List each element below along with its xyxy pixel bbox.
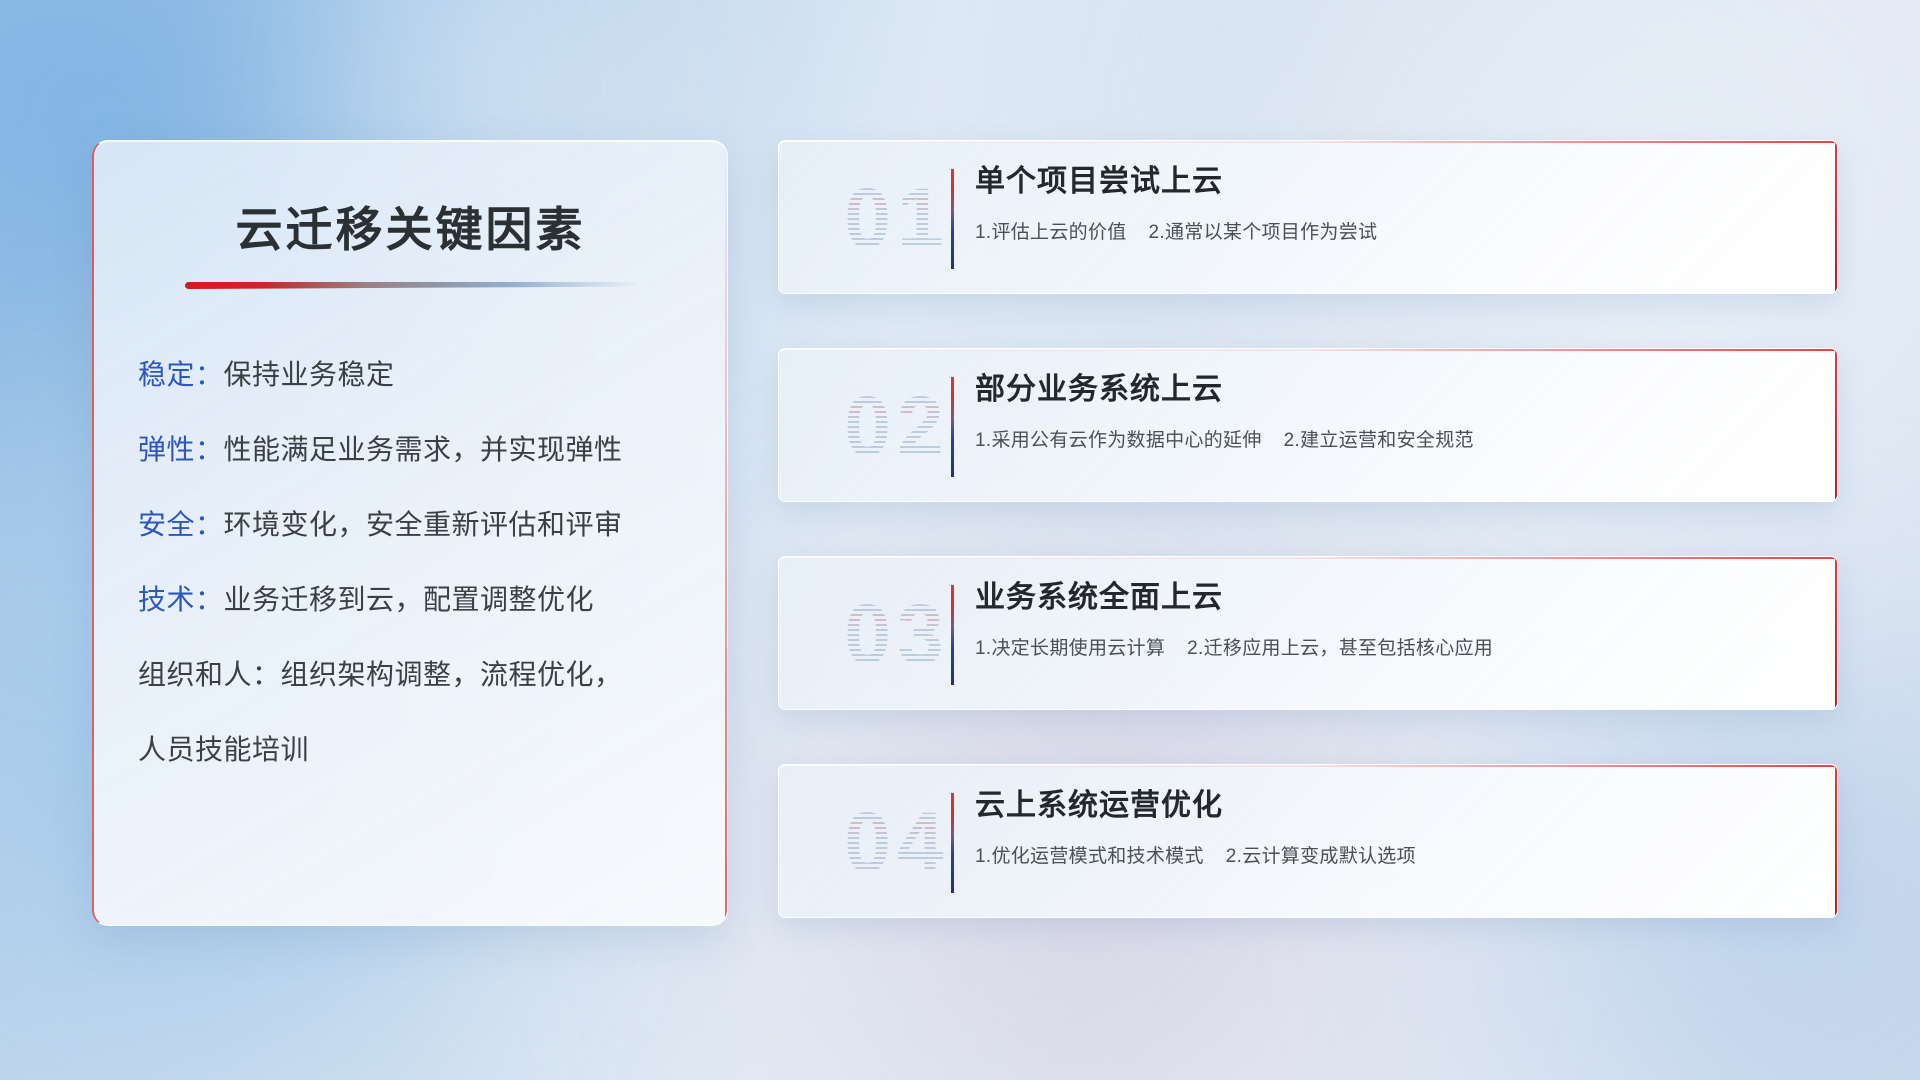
factor-item-3: 安全：环境变化，安全重新评估和评审 [138, 511, 687, 539]
stage-card-04[interactable]: 04 04 云上系统运营优化 1.优化运营模式和技术模式2.云计算变成默认选项 [778, 764, 1838, 918]
stage-number-tint-02: 02 [807, 371, 987, 481]
factor-label-3: 安全： [138, 509, 224, 540]
key-factors-list: 稳定：保持业务稳定 弹性：性能满足业务需求，并实现弹性 安全：环境变化，安全重新… [94, 361, 727, 764]
stage-card-01[interactable]: 01 01 单个项目尝试上云 1.评估上云的价值2.通常以某个项目作为尝试 [778, 140, 1838, 294]
factor-value-3: 环境变化，安全重新评估和评审 [224, 509, 623, 540]
stage-number-tint-04: 04 [807, 787, 987, 897]
stage-title-01: 单个项目尝试上云 [975, 163, 1809, 201]
stage-number-tint-01: 01 [807, 163, 987, 273]
factor-item-4: 技术：业务迁移到云，配置调整优化 [138, 586, 687, 614]
factor-value-4: 业务迁移到云，配置调整优化 [224, 584, 595, 615]
stage-title-02: 部分业务系统上云 [975, 371, 1809, 409]
factor-item-2: 弹性：性能满足业务需求，并实现弹性 [138, 436, 687, 464]
stage-points-02: 1.采用公有云作为数据中心的延伸2.建立运营和安全规范 [975, 425, 1809, 452]
stage-text-block-04: 云上系统运营优化 1.优化运营模式和技术模式2.云计算变成默认选项 [975, 787, 1809, 868]
stage-text-block-01: 单个项目尝试上云 1.评估上云的价值2.通常以某个项目作为尝试 [975, 163, 1809, 244]
factor-label-5: 组织和人： [138, 659, 281, 690]
stage-point-02-2: 2.建立运营和安全规范 [1284, 430, 1474, 451]
stage-points-03: 1.决定长期使用云计算2.迁移应用上云，甚至包括核心应用 [975, 633, 1809, 660]
stage-number-watermark-02: 02 02 [807, 371, 987, 481]
stage-point-04-2: 2.云计算变成默认选项 [1226, 846, 1416, 867]
stage-point-01-2: 2.通常以某个项目作为尝试 [1149, 222, 1378, 243]
stage-card-02[interactable]: 02 02 部分业务系统上云 1.采用公有云作为数据中心的延伸2.建立运营和安全… [778, 348, 1838, 502]
factor-value-2: 性能满足业务需求，并实现弹性 [224, 434, 623, 465]
stage-number-watermark-03: 03 03 [807, 579, 987, 689]
stage-title-04: 云上系统运营优化 [975, 787, 1809, 825]
stage-point-01-1: 1.评估上云的价值 [975, 222, 1127, 243]
factor-value-5: 组织架构调整，流程优化， [281, 659, 623, 690]
key-factors-card: 云迁移关键因素 稳定：保持业务稳定 弹性：性能满足业务需求，并实现弹性 安全：环… [92, 140, 728, 926]
stage-text-block-03: 业务系统全面上云 1.决定长期使用云计算2.迁移应用上云，甚至包括核心应用 [975, 579, 1809, 660]
page-title: 云迁移关键因素 [94, 191, 727, 260]
stage-accent-bar-03 [951, 585, 954, 685]
stage-accent-bar-04 [951, 793, 954, 893]
stage-number-watermark-04: 04 04 [807, 787, 987, 897]
stage-points-01: 1.评估上云的价值2.通常以某个项目作为尝试 [975, 217, 1809, 244]
factor-value-5-continued: 人员技能培训 [138, 734, 309, 765]
factor-value-1: 保持业务稳定 [224, 359, 395, 390]
stage-point-03-1: 1.决定长期使用云计算 [975, 638, 1165, 659]
stage-points-04: 1.优化运营模式和技术模式2.云计算变成默认选项 [975, 841, 1809, 868]
factor-item-5: 组织和人：组织架构调整，流程优化， [138, 661, 687, 689]
stage-title-03: 业务系统全面上云 [975, 579, 1809, 617]
factor-label-4: 技术： [138, 584, 224, 615]
stage-point-04-1: 1.优化运营模式和技术模式 [975, 846, 1204, 867]
stage-text-block-02: 部分业务系统上云 1.采用公有云作为数据中心的延伸2.建立运营和安全规范 [975, 371, 1809, 452]
stage-number-tint-03: 03 [807, 579, 987, 689]
factor-item-1: 稳定：保持业务稳定 [138, 361, 687, 389]
stage-card-list: 01 01 单个项目尝试上云 1.评估上云的价值2.通常以某个项目作为尝试 02… [778, 140, 1838, 972]
stage-accent-bar-02 [951, 377, 954, 477]
factor-label-2: 弹性： [138, 434, 224, 465]
stage-point-02-1: 1.采用公有云作为数据中心的延伸 [975, 430, 1262, 451]
stage-card-03[interactable]: 03 03 业务系统全面上云 1.决定长期使用云计算2.迁移应用上云，甚至包括核… [778, 556, 1838, 710]
factor-label-1: 稳定： [138, 359, 224, 390]
stage-number-watermark-01: 01 01 [807, 163, 987, 273]
stage-point-03-2: 2.迁移应用上云，甚至包括核心应用 [1187, 638, 1493, 659]
factor-item-5-continued: 人员技能培训 [138, 736, 687, 764]
title-underline-rule [185, 282, 637, 289]
stage-accent-bar-01 [951, 169, 954, 269]
